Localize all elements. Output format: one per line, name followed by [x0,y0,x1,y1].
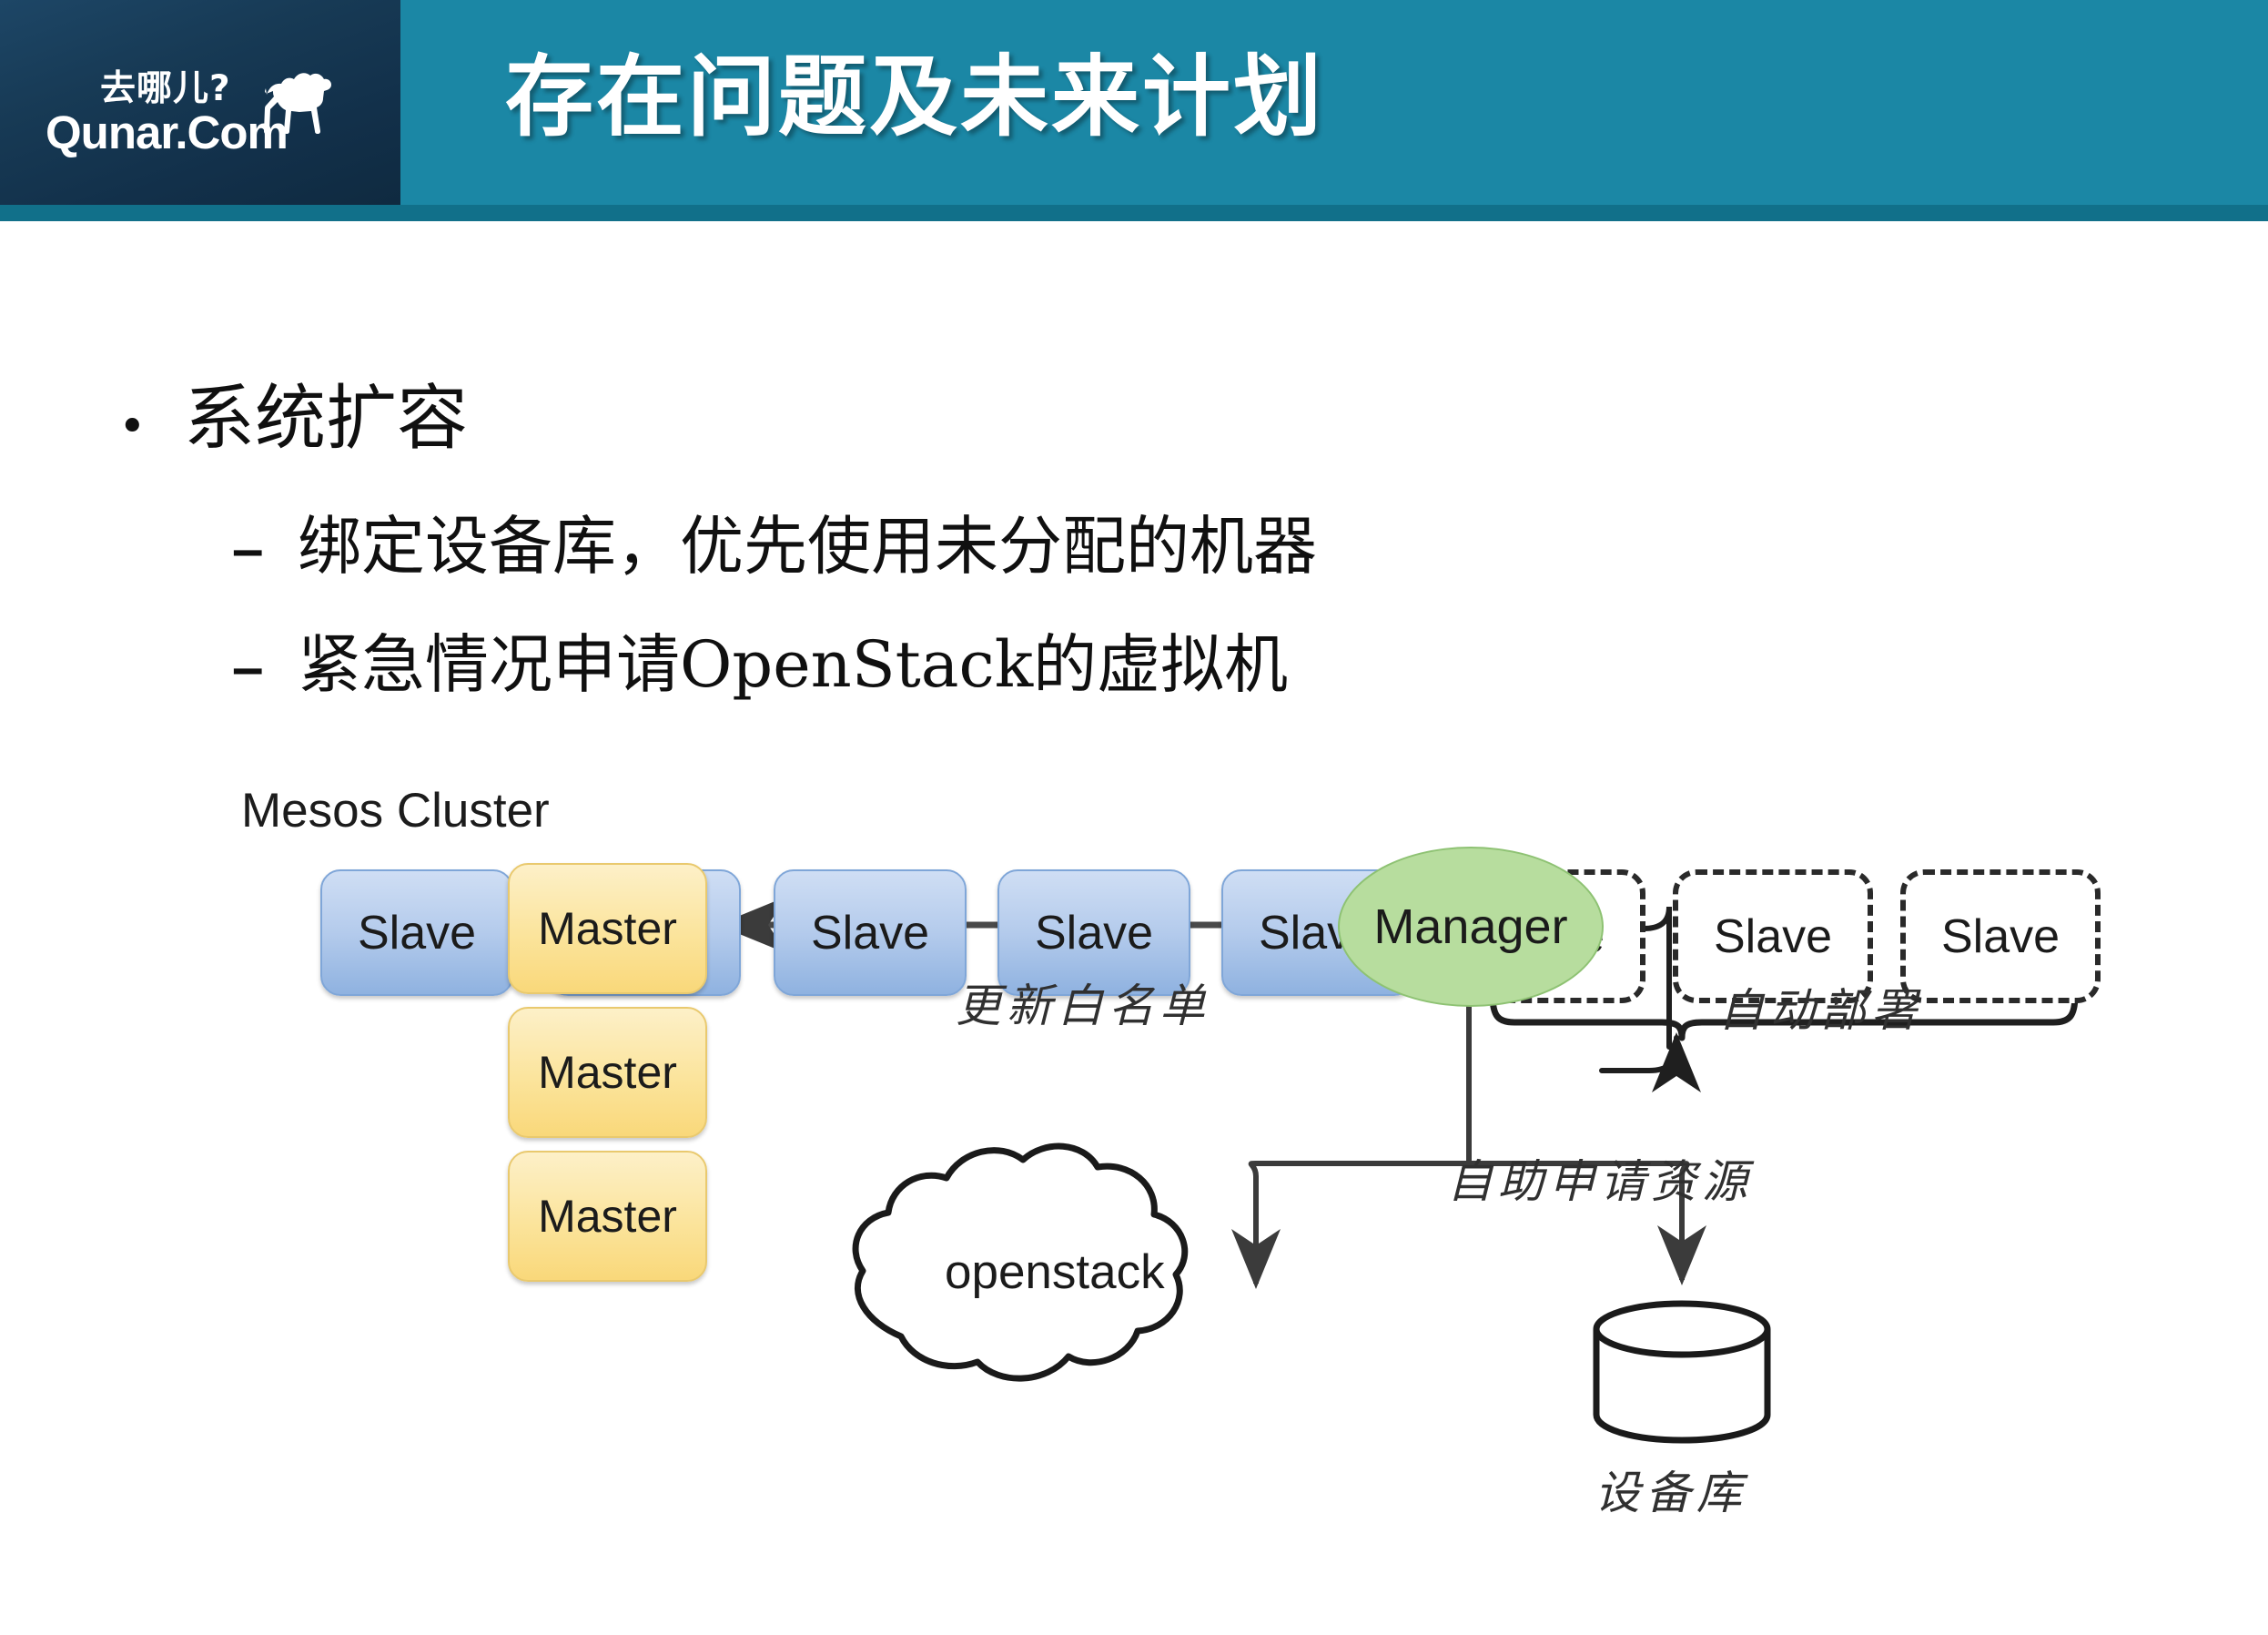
device-db-label: 设备库 [1595,1457,1747,1522]
qunar-logo: 去哪儿? Qunar.Com [46,71,355,171]
slave-node-label: Slave [1035,906,1153,960]
manager-node-label: Manager [1373,899,1567,955]
bullet-level1: • 系统扩容 [118,381,1848,459]
camel-icon [250,64,350,150]
master-node-label: Master [538,902,677,955]
slave-node: Slave [320,869,513,996]
openstack-cloud-label: openstack [945,1244,1165,1300]
master-node: Master [508,1151,707,1282]
slave-node-planned: Slave [1900,869,2101,1003]
slave-node-label: Slave [1941,909,2060,964]
edge-label-auto-deploy: 自动部署 [1718,974,1922,1040]
bullet-level1-text: 系统扩容 [184,381,468,459]
slave-node-label: Slave [811,906,929,960]
mesos-cluster-label: Mesos Cluster [241,783,550,838]
slave-node-label: Slave [1714,909,1832,964]
slave-node-label: Slave [358,906,476,960]
master-node: Master [508,1007,707,1138]
master-node-label: Master [538,1190,677,1243]
qunar-logo-panel: 去哪儿? Qunar.Com [0,0,400,205]
manager-node: Manager [1338,847,1604,1007]
slide-header: 去哪儿? Qunar.Com 存在问题及未来计划 [0,0,2268,221]
architecture-diagram: Mesos Cluster Slave [0,765,2268,1611]
master-node-label: Master [538,1046,677,1099]
bullet-level2-text-1: 绑定设备库，优先使用未分配的机器 [298,512,1317,582]
slave-node: Slave [774,869,967,996]
sub-bullet-marker: – [232,637,298,699]
logo-tagline: 去哪儿? [100,71,231,107]
sub-bullet-marker: – [232,519,298,581]
page-title: 存在问题及未来计划 [505,42,1324,152]
bullet-level2-2: – 紧急情况申请OpenStack的虚拟机 [232,630,2098,700]
edge-label-update-whitelist: 更新白名单 [956,970,1210,1035]
bullet-level2-text-2: 紧急情况申请OpenStack的虚拟机 [298,630,1288,700]
header-underline-strip [0,205,2268,221]
edge-label-self-service: 自助申请资源 [1447,1145,1753,1211]
master-node: Master [508,863,707,994]
bullet-marker: • [118,403,184,451]
bullet-level2-1: – 绑定设备库，优先使用未分配的机器 [232,512,2098,582]
